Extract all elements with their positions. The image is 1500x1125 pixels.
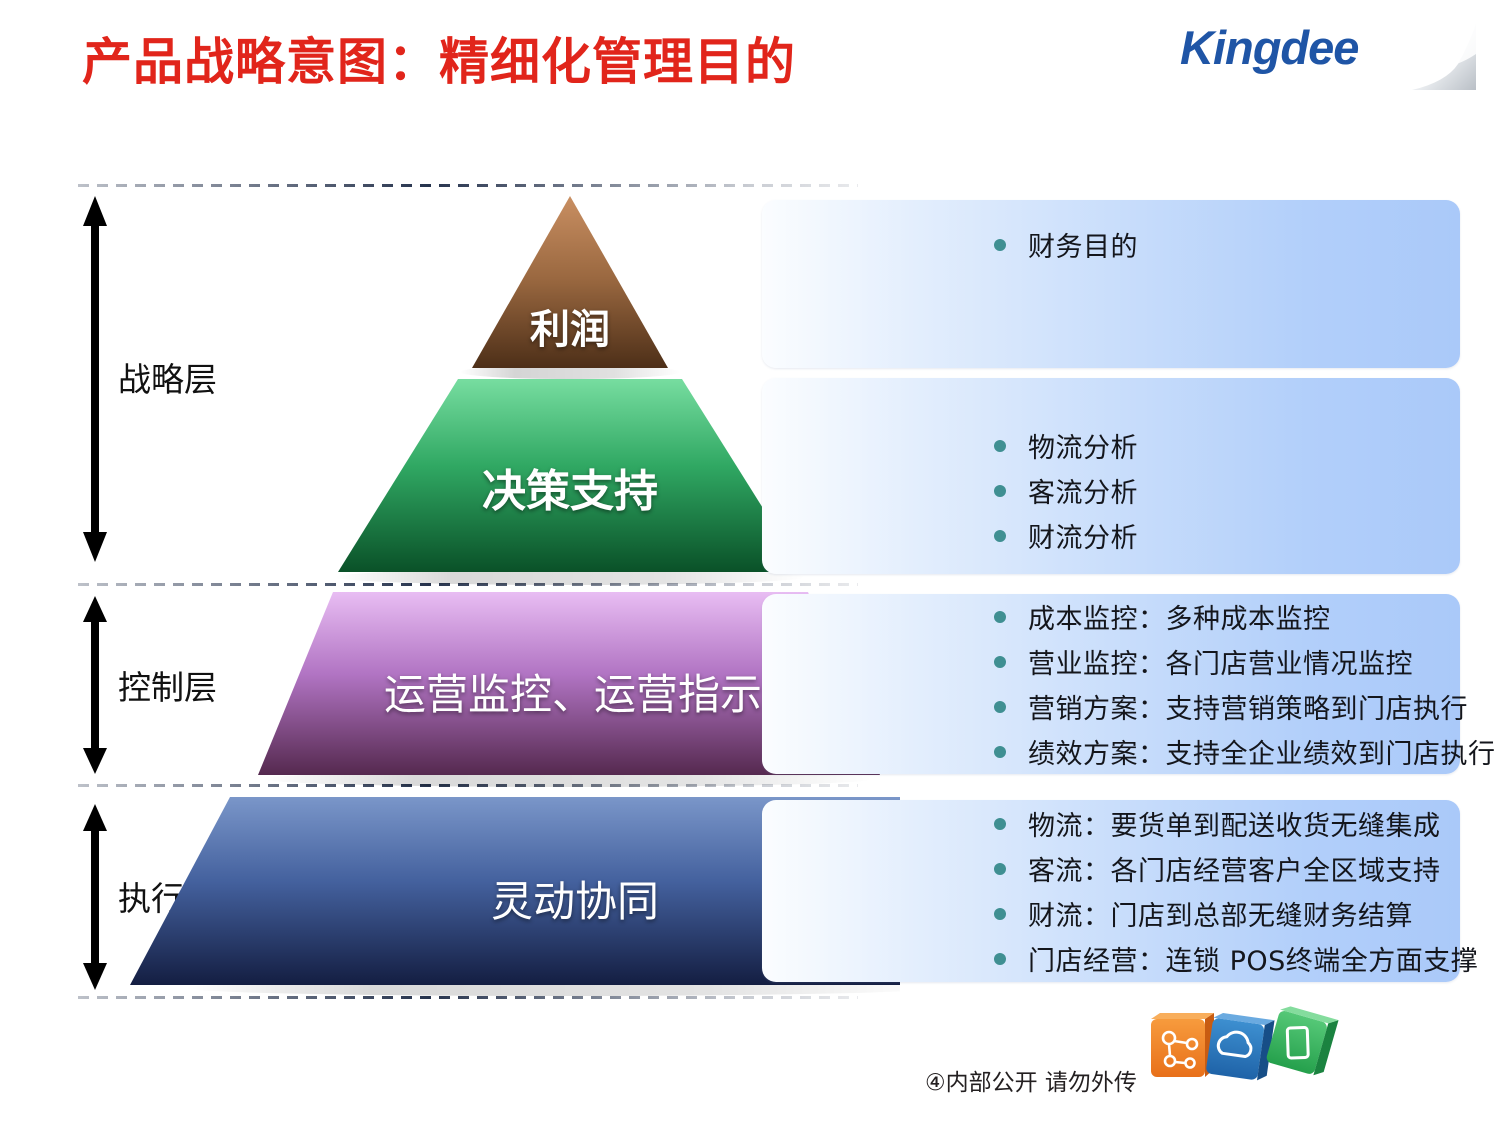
list-item: 财务目的 <box>994 225 1450 264</box>
bullet-label: 营销方案：支持营销策略到门店执行 <box>1028 687 1468 726</box>
bullet-label: 财务目的 <box>1028 225 1138 264</box>
bullet-dot-icon <box>994 746 1006 758</box>
bullet-label: 客流：各门店经营客户全区域支持 <box>1028 849 1441 888</box>
bullet-list: 物流：要货单到配送收货无缝集成 客流：各门店经营客户全区域支持 财流：门店到总部… <box>994 800 1450 982</box>
info-panel-operation-control: 成本监控：多种成本监控 营业监控：各门店营业情况监控 营销方案：支持营销策略到门… <box>762 594 1460 774</box>
list-item: 营业监控：各门店营业情况监控 <box>994 642 1450 681</box>
footer-cube-icons <box>1145 1005 1345 1110</box>
bullet-list: 财务目的 <box>994 200 1450 368</box>
kingdee-logo-text: Kingdee <box>1180 20 1358 75</box>
kingdee-logo: Kingdee <box>1152 18 1482 96</box>
list-item: 物流分析 <box>994 426 1450 465</box>
bullet-dot-icon <box>994 953 1006 965</box>
bullet-dot-icon <box>994 440 1006 452</box>
info-panel-decision-analysis: 物流分析 客流分析 财流分析 <box>762 378 1460 574</box>
info-panel-execution-collaboration: 物流：要货单到配送收货无缝集成 客流：各门店经营客户全区域支持 财流：门店到总部… <box>762 800 1460 982</box>
page-curl-icon <box>1410 24 1476 90</box>
bullet-dot-icon <box>994 611 1006 623</box>
list-item: 财流分析 <box>994 516 1450 555</box>
list-item: 客流：各门店经营客户全区域支持 <box>994 849 1450 888</box>
list-item: 物流：要货单到配送收货无缝集成 <box>994 804 1450 843</box>
list-item: 门店经营：连锁 POS终端全方面支撑 <box>994 939 1450 978</box>
bullet-dot-icon <box>994 530 1006 542</box>
bullet-dot-icon <box>994 863 1006 875</box>
bullet-label: 财流分析 <box>1028 516 1138 555</box>
bullet-label: 绩效方案：支持全企业绩效到门店执行 <box>1028 732 1496 771</box>
bullet-dot-icon <box>994 818 1006 830</box>
confidentiality-note: ④内部公开 请勿外传 <box>925 1063 1137 1097</box>
bullet-label: 营业监控：各门店营业情况监控 <box>1028 642 1413 681</box>
network-nodes-cube-icon <box>1151 1013 1214 1077</box>
pyramid-tier-2-label: 决策支持 <box>420 455 720 519</box>
bullet-dot-icon <box>994 485 1006 497</box>
list-item: 营销方案：支持营销策略到门店执行 <box>994 687 1450 726</box>
list-item: 成本监控：多种成本监控 <box>994 597 1450 636</box>
bullet-label: 财流：门店到总部无缝财务结算 <box>1028 894 1413 933</box>
list-item: 财流：门店到总部无缝财务结算 <box>994 894 1450 933</box>
bullet-label: 成本监控：多种成本监控 <box>1028 597 1331 636</box>
bullet-label: 客流分析 <box>1028 471 1138 510</box>
bullet-dot-icon <box>994 239 1006 251</box>
bullet-dot-icon <box>994 656 1006 668</box>
pyramid-tier-3-label: 运营监控、运营指示 <box>323 661 823 722</box>
bullet-label: 物流分析 <box>1028 426 1138 465</box>
slide-canvas: 产品战略意图：精细化管理目的 Kingdee 战略层 <box>0 0 1500 1125</box>
bullet-list: 成本监控：多种成本监控 营业监控：各门店营业情况监控 营销方案：支持营销策略到门… <box>994 594 1450 774</box>
bullet-label: 物流：要货单到配送收货无缝集成 <box>1028 804 1441 843</box>
info-panel-financial-purpose: 财务目的 <box>762 200 1460 368</box>
tablet-cube-icon <box>1265 1005 1338 1078</box>
bullet-dot-icon <box>994 908 1006 920</box>
bullet-label: 门店经营：连锁 POS终端全方面支撑 <box>1028 939 1478 978</box>
pyramid-tier-4-label: 灵动协同 <box>380 868 770 929</box>
bullet-list: 物流分析 客流分析 财流分析 <box>994 378 1450 574</box>
pyramid-tier-1-label: 利润 <box>470 297 670 355</box>
cloud-cube-icon <box>1205 1012 1274 1082</box>
list-item: 绩效方案：支持全企业绩效到门店执行 <box>994 732 1450 771</box>
bullet-dot-icon <box>994 701 1006 713</box>
list-item: 客流分析 <box>994 471 1450 510</box>
